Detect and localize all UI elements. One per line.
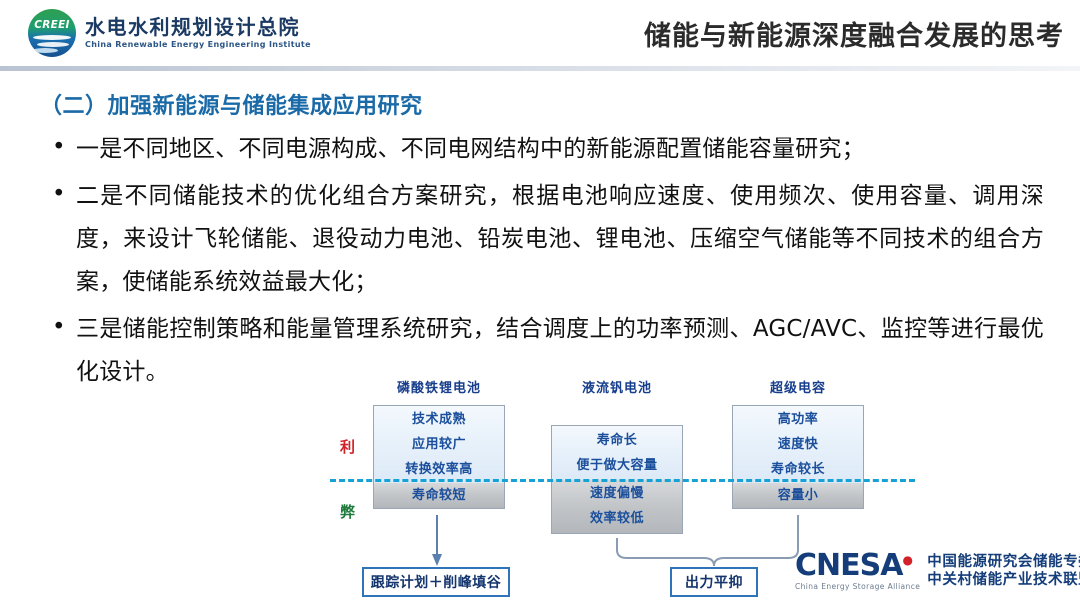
con-item: 寿命较短 bbox=[374, 483, 504, 508]
pros-section: 技术成熟 应用较广 转换效率高 bbox=[374, 406, 504, 483]
cons-axis-label: 弊 bbox=[340, 501, 356, 522]
storage-comparison-diagram: 磷酸铁锂电池 液流钒电池 超级电容 技术成熟 应用较广 转换效率高 寿命较短 寿… bbox=[0, 0, 1080, 608]
diagram-connectors bbox=[0, 0, 1080, 608]
pros-section: 寿命长 便于做大容量 bbox=[552, 426, 682, 480]
cnesa-cn-block: 中国能源研究会储能专委会 中关村储能产业技术联盟 bbox=[927, 554, 1080, 589]
connector-col3-to-result2 bbox=[714, 515, 798, 566]
con-item: 效率较低 bbox=[552, 506, 682, 531]
pros-section: 高功率 速度快 寿命较长 bbox=[733, 406, 863, 483]
comparison-card-lfp: 技术成熟 应用较广 转换效率高 寿命较短 bbox=[373, 405, 505, 509]
comparison-card-supercapacitor: 高功率 速度快 寿命较长 容量小 bbox=[732, 405, 864, 509]
column-title-lfp: 磷酸铁锂电池 bbox=[373, 377, 505, 396]
cnesa-wordmark: CNESA● bbox=[795, 552, 920, 581]
cnesa-wordmark-block: CNESA● China Energy Storage Alliance bbox=[795, 552, 920, 591]
cons-section: 速度偏慢 效率较低 bbox=[552, 480, 682, 533]
pro-item: 便于做大容量 bbox=[552, 453, 682, 478]
pro-item: 寿命较长 bbox=[733, 457, 863, 482]
connector-col2-to-result2 bbox=[617, 538, 714, 566]
cnesa-wordmark-text: CNESA bbox=[795, 548, 902, 583]
cnesa-logo-icon: CNESA● China Energy Storage Alliance 中国能… bbox=[795, 552, 1080, 591]
pro-item: 技术成熟 bbox=[374, 407, 504, 432]
cnesa-accent-dot-icon: ● bbox=[902, 553, 911, 567]
pro-item: 应用较广 bbox=[374, 432, 504, 457]
pro-item: 寿命长 bbox=[552, 428, 682, 453]
con-item: 速度偏慢 bbox=[552, 481, 682, 506]
cnesa-subtitle: China Energy Storage Alliance bbox=[795, 582, 920, 591]
result-box-tracking-peak-shaving: 跟踪计划＋削峰填谷 bbox=[362, 567, 510, 597]
cons-section: 容量小 bbox=[733, 483, 863, 509]
pro-item: 转换效率高 bbox=[374, 457, 504, 482]
cnesa-cn-line2: 中关村储能产业技术联盟 bbox=[927, 572, 1080, 590]
pro-item: 高功率 bbox=[733, 407, 863, 432]
slide-canvas: CREEI 水电水利规划设计总院 China Renewable Energy … bbox=[0, 0, 1080, 608]
pros-axis-label: 利 bbox=[340, 436, 356, 457]
con-item: 容量小 bbox=[733, 483, 863, 508]
column-title-vanadium-flow: 液流钒电池 bbox=[551, 377, 683, 396]
column-title-supercapacitor: 超级电容 bbox=[732, 377, 864, 396]
pros-cons-divider bbox=[330, 479, 915, 482]
cons-section: 寿命较短 bbox=[374, 483, 504, 509]
cnesa-cn-line1: 中国能源研究会储能专委会 bbox=[927, 554, 1080, 572]
pro-item: 速度快 bbox=[733, 432, 863, 457]
result-box-output-smoothing: 出力平抑 bbox=[670, 567, 758, 597]
arrowhead-col1 bbox=[432, 554, 442, 566]
